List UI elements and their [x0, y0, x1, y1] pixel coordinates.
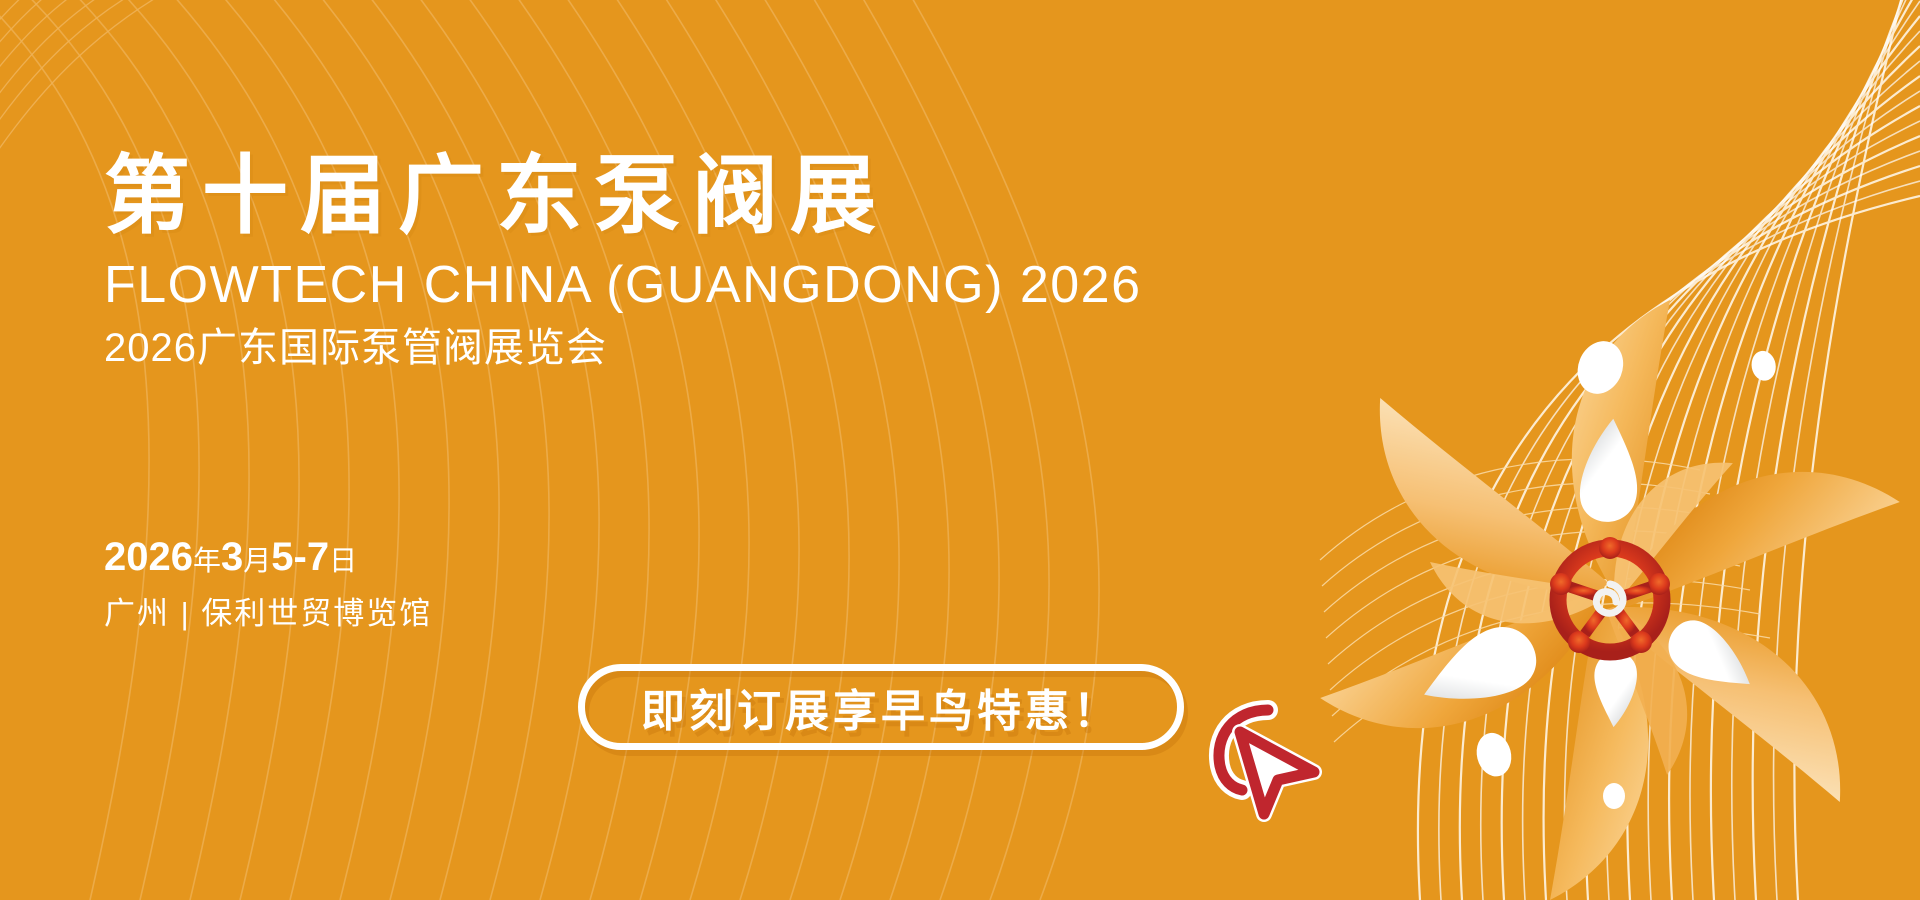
date-day-unit: 日 — [329, 545, 357, 576]
title-english: FLOWTECH CHINA (GUANGDONG) 2026 — [104, 257, 1142, 314]
headline-block: 第十届广东泵阀展 FLOWTECH CHINA (GUANGDONG) 2026… — [104, 150, 1142, 370]
cta-container: 即刻订展享早鸟特惠！ — [578, 664, 1184, 750]
date-year-unit: 年 — [193, 545, 221, 576]
exhibition-banner: 第十届广东泵阀展 FLOWTECH CHINA (GUANGDONG) 2026… — [0, 0, 1920, 900]
background-line-pattern — [0, 0, 1920, 900]
event-details-block: 2026年3月5-7日 广州 | 保利世贸博览馆 — [104, 533, 432, 632]
date-days: 5-7 — [271, 535, 329, 579]
date-month: 3 — [221, 535, 243, 579]
date-year: 2026 — [104, 535, 193, 579]
early-bird-cta-button[interactable]: 即刻订展享早鸟特惠！ — [578, 664, 1184, 750]
event-location: 广州 | 保利世贸博览馆 — [104, 595, 432, 632]
event-date: 2026年3月5-7日 — [104, 533, 432, 581]
page-title: 第十届广东泵阀展 — [104, 150, 1142, 243]
title-subtitle-cn: 2026广东国际泵管阀展览会 — [104, 326, 1142, 370]
date-month-unit: 月 — [243, 545, 271, 576]
